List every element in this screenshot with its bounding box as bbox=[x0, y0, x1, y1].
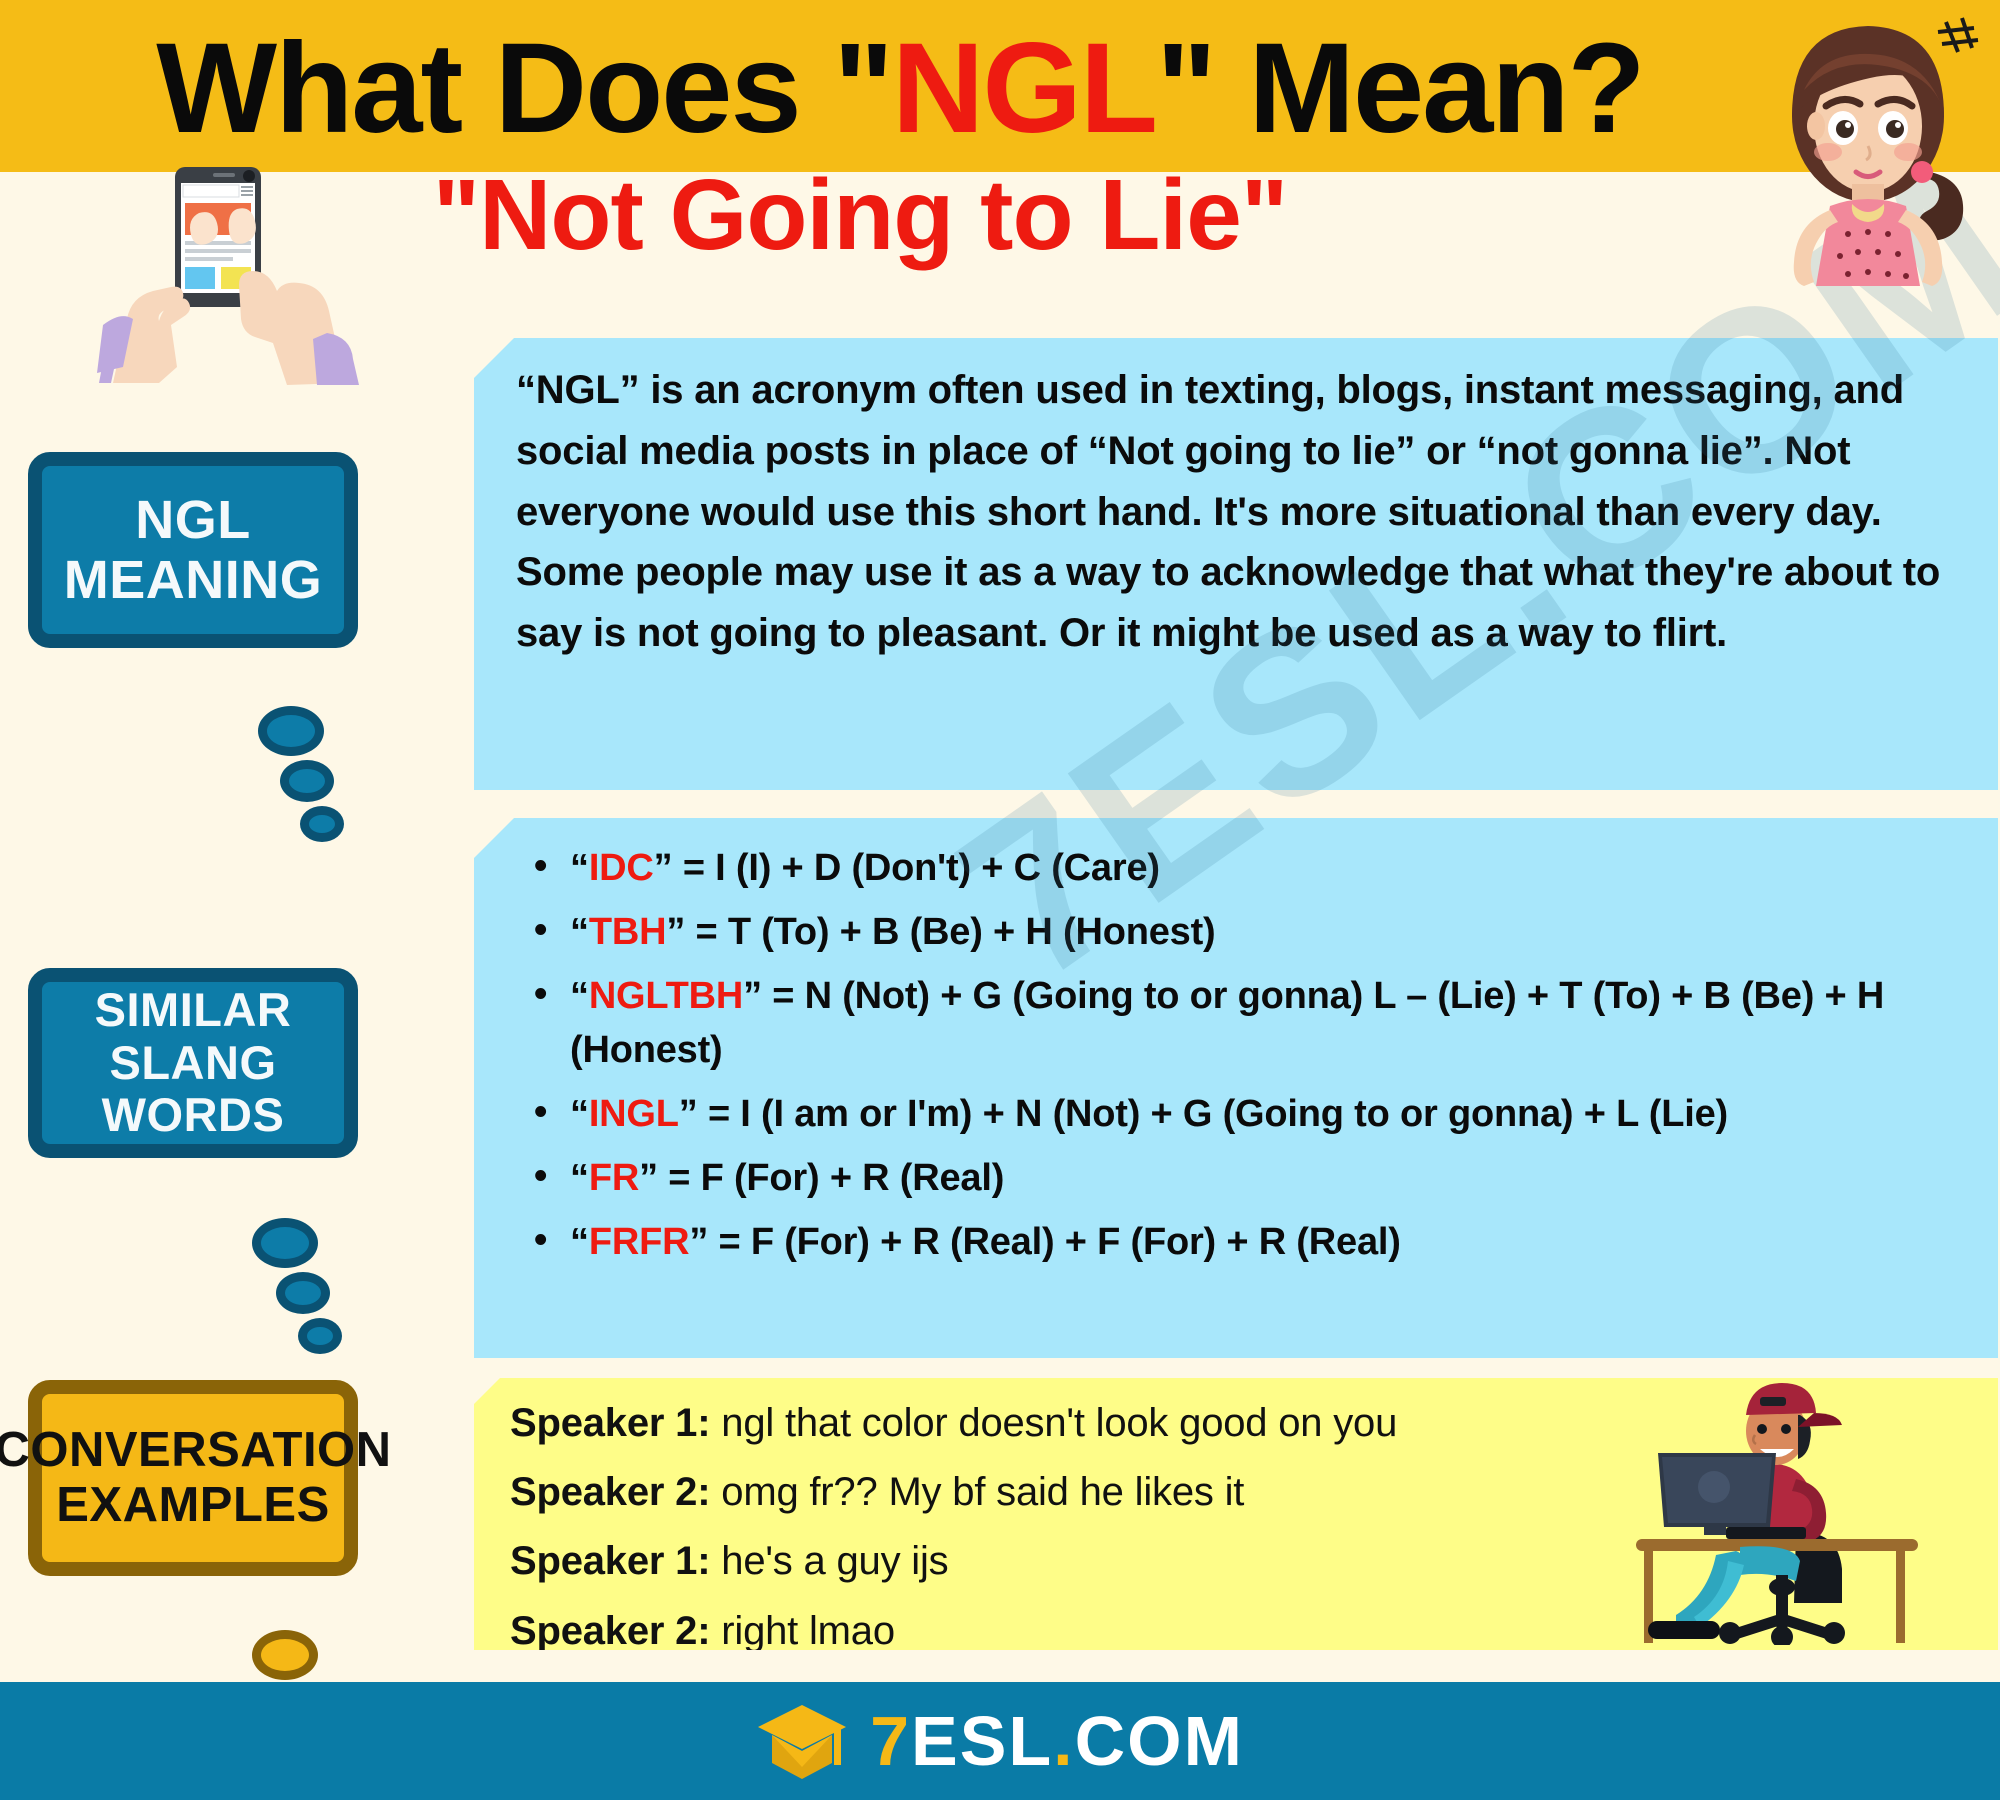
slang-acronym: FRFR bbox=[589, 1221, 690, 1263]
thought-bubble-large bbox=[258, 706, 324, 756]
ngl-meaning-paragraph: “NGL” is an acronym often used in textin… bbox=[516, 360, 1954, 664]
speaker-text: omg fr?? My bf said he likes it bbox=[710, 1470, 1244, 1514]
speaker-label: Speaker 1: bbox=[510, 1539, 710, 1583]
man-at-desk-illustration bbox=[1600, 1375, 2000, 1645]
page-subtitle: "Not Going to Lie" bbox=[300, 160, 1420, 270]
slang-definition: ” = F (For) + R (Real) bbox=[639, 1157, 1004, 1199]
list-item: “TBH” = T (To) + B (Be) + H (Honest) bbox=[514, 906, 1958, 960]
speaker-label: Speaker 2: bbox=[510, 1470, 710, 1514]
logo-number: 7 bbox=[870, 1702, 911, 1780]
thought-bubble-medium bbox=[280, 760, 334, 802]
label-line-1: SIMILAR SLANG bbox=[95, 983, 292, 1089]
speaker-label: Speaker 1: bbox=[510, 1401, 710, 1445]
sidebar-item-conversation-examples[interactable]: CONVERSATION EXAMPLES bbox=[28, 1380, 358, 1576]
slang-acronym: NGLTBH bbox=[589, 975, 743, 1017]
thought-bubble-large bbox=[252, 1218, 318, 1268]
logo-esl: ESL bbox=[911, 1702, 1053, 1780]
title-prefix: What Does " bbox=[156, 15, 892, 162]
similar-slang-words-panel: “IDC” = I (I) + D (Don't) + C (Care) “TB… bbox=[474, 818, 1998, 1358]
label-line-1: CONVERSATION bbox=[0, 1423, 392, 1477]
label-line-2: WORDS bbox=[102, 1088, 285, 1141]
slang-definition: ” = I (I) + D (Don't) + C (Care) bbox=[654, 847, 1160, 889]
thought-bubble-small bbox=[298, 1318, 342, 1354]
slang-definition: ” = I (I am or I'm) + N (Not) + G (Going… bbox=[679, 1093, 1728, 1135]
site-logo-text[interactable]: 7ESL.COM bbox=[870, 1701, 1244, 1781]
thought-bubble-medium bbox=[276, 1272, 330, 1314]
label-line-1: NGL bbox=[135, 490, 251, 550]
ngl-meaning-panel: “NGL” is an acronym often used in textin… bbox=[474, 338, 1998, 790]
logo-com: COM bbox=[1075, 1702, 1244, 1780]
slang-acronym: TBH bbox=[589, 911, 667, 953]
speaker-label: Speaker 2: bbox=[510, 1609, 710, 1653]
slang-definition: ” = T (To) + B (Be) + H (Honest) bbox=[666, 911, 1215, 953]
list-item: “NGLTBH” = N (Not) + G (Going to or gonn… bbox=[514, 970, 1958, 1078]
speaker-text: ngl that color doesn't look good on you bbox=[710, 1401, 1397, 1445]
logo-dot: . bbox=[1053, 1702, 1074, 1780]
slang-acronym: FR bbox=[589, 1157, 639, 1199]
thought-bubble-large bbox=[252, 1630, 318, 1680]
sidebar-label-ngl-meaning: NGL MEANING bbox=[64, 490, 323, 611]
sidebar-item-similar-slang-words[interactable]: SIMILAR SLANG WORDS bbox=[28, 968, 358, 1158]
slang-acronym: IDC bbox=[589, 847, 654, 889]
slang-definition: ” = F (For) + R (Real) + F (For) + R (Re… bbox=[689, 1221, 1400, 1263]
label-line-2: MEANING bbox=[64, 550, 323, 610]
list-item: “INGL” = I (I am or I'm) + N (Not) + G (… bbox=[514, 1088, 1958, 1142]
title-highlight: NGL bbox=[892, 15, 1156, 162]
girl-thinking-illustration bbox=[1760, 6, 1990, 286]
graduation-cap-logo-icon bbox=[756, 1701, 848, 1781]
sidebar-item-ngl-meaning[interactable]: NGL MEANING bbox=[28, 452, 358, 648]
sidebar-label-similar-slang-words: SIMILAR SLANG WORDS bbox=[42, 984, 344, 1142]
label-line-2: EXAMPLES bbox=[56, 1478, 330, 1532]
list-item: “FRFR” = F (For) + R (Real) + F (For) + … bbox=[514, 1216, 1958, 1270]
thought-bubble-small bbox=[300, 806, 344, 842]
title-suffix: " Mean? bbox=[1156, 15, 1644, 162]
slang-acronym: INGL bbox=[589, 1093, 679, 1135]
sidebar-label-conversation-examples: CONVERSATION EXAMPLES bbox=[0, 1423, 392, 1533]
list-item: “IDC” = I (I) + D (Don't) + C (Care) bbox=[514, 842, 1958, 896]
slang-definition: ” = N (Not) + G (Going to or gonna) L – … bbox=[570, 975, 1884, 1071]
speaker-text: he's a guy ijs bbox=[710, 1539, 948, 1583]
page-title: What Does "NGL" Mean? bbox=[0, 8, 1800, 168]
slang-word-list: “IDC” = I (I) + D (Don't) + C (Care) “TB… bbox=[514, 842, 1958, 1270]
speaker-text: right lmao bbox=[710, 1609, 895, 1653]
footer-bar: 7ESL.COM bbox=[0, 1682, 2000, 1800]
list-item: “FR” = F (For) + R (Real) bbox=[514, 1152, 1958, 1206]
